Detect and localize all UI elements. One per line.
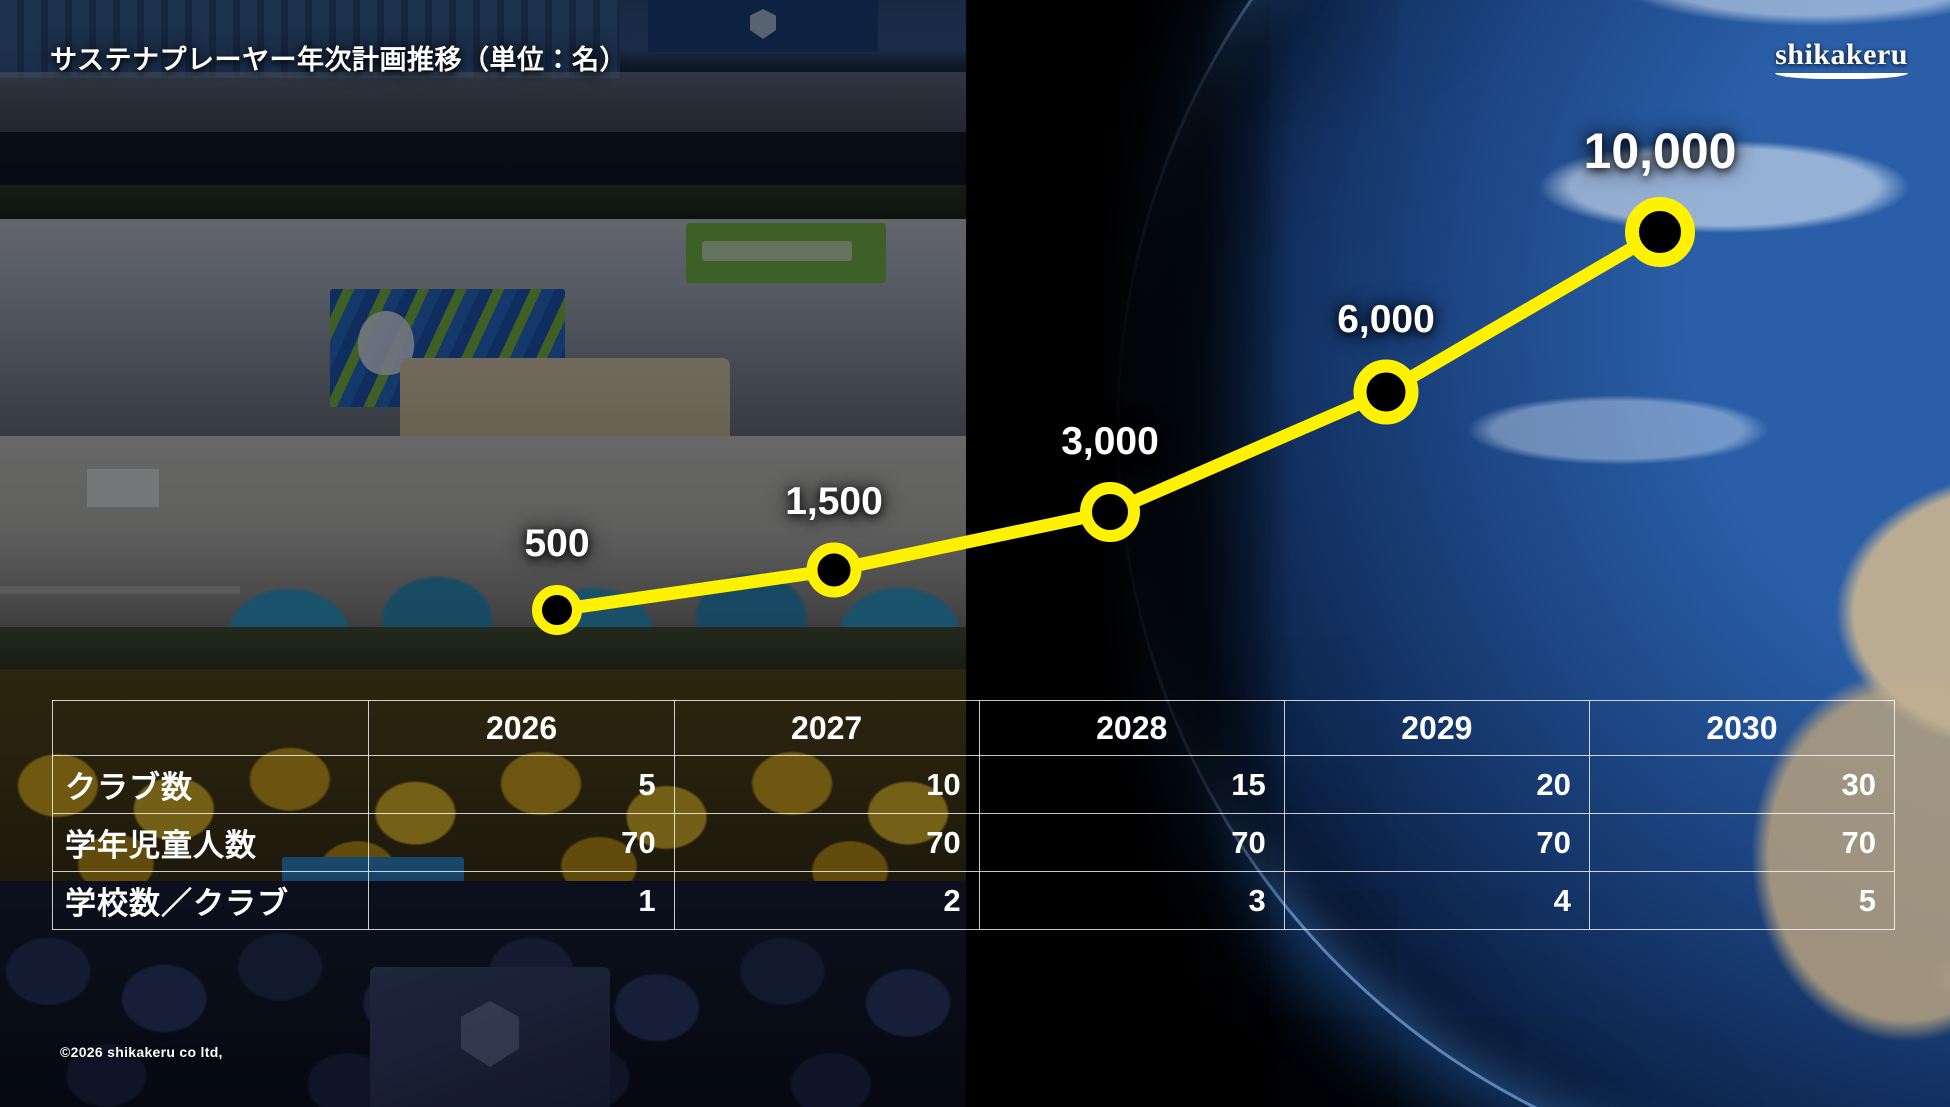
table-header-row: 2026 2027 2028 2029 2030 — [53, 701, 1895, 756]
table-cell: 70 — [369, 814, 674, 872]
earth-globe — [1116, 0, 1950, 1107]
table-row: クラブ数 5 10 15 20 30 — [53, 756, 1895, 814]
chart-value-label-2030: 10,000 — [1584, 122, 1737, 180]
table-row: 学年児童人数 70 70 70 70 70 — [53, 814, 1895, 872]
table-col-header-2029: 2029 — [1284, 701, 1589, 756]
table-cell: 1 — [369, 872, 674, 930]
table-cell: 10 — [674, 756, 979, 814]
table-cell: 15 — [979, 756, 1284, 814]
table-cell: 3 — [979, 872, 1284, 930]
table-col-header-2027: 2027 — [674, 701, 979, 756]
table-cell: 70 — [979, 814, 1284, 872]
brand-underline — [1775, 73, 1908, 79]
photo-band-light-blue-kit-group — [0, 436, 966, 669]
earth-from-space-background — [966, 0, 1950, 1107]
photo-band-green-kit-group — [0, 219, 966, 436]
brand-wordmark: shikakeru — [1775, 40, 1908, 70]
table-cell: 70 — [1284, 814, 1589, 872]
chart-value-label-2028: 3,000 — [1061, 420, 1159, 464]
page-title: サステナプレーヤー年次計画推移（単位：名） — [50, 38, 627, 77]
table-row-label-schools-per-club: 学校数／クラブ — [53, 872, 369, 930]
table-row-label-clubs: クラブ数 — [53, 756, 369, 814]
table-col-header-2030: 2030 — [1589, 701, 1894, 756]
table-cell: 4 — [1284, 872, 1589, 930]
photo-band-stadium-group — [0, 0, 966, 219]
table-row: 学校数／クラブ 1 2 3 4 5 — [53, 872, 1895, 930]
table-cell: 70 — [1589, 814, 1894, 872]
table-cell: 2 — [674, 872, 979, 930]
presentation-slide: サステナプレーヤー年次計画推移（単位：名） shikakeru 5001,500… — [0, 0, 1950, 1107]
table-cell: 20 — [1284, 756, 1589, 814]
table-cell: 5 — [369, 756, 674, 814]
table-row-label-students: 学年児童人数 — [53, 814, 369, 872]
chart-value-label-2029: 6,000 — [1337, 298, 1435, 342]
shikakeru-logo: shikakeru — [1775, 40, 1908, 79]
table-cell: 30 — [1589, 756, 1894, 814]
table-col-header-2026: 2026 — [369, 701, 674, 756]
chart-value-label-2027: 1,500 — [785, 480, 883, 524]
table-cell: 5 — [1589, 872, 1894, 930]
chart-value-label-2026: 500 — [524, 522, 589, 566]
annual-plan-table: 2026 2027 2028 2029 2030 クラブ数 5 10 15 20… — [52, 700, 1895, 930]
photo-collage — [0, 0, 966, 1107]
copyright-notice: ©2026 shikakeru co ltd, — [60, 1044, 223, 1060]
table-corner-cell — [53, 701, 369, 756]
table-col-header-2028: 2028 — [979, 701, 1284, 756]
table-cell: 70 — [674, 814, 979, 872]
